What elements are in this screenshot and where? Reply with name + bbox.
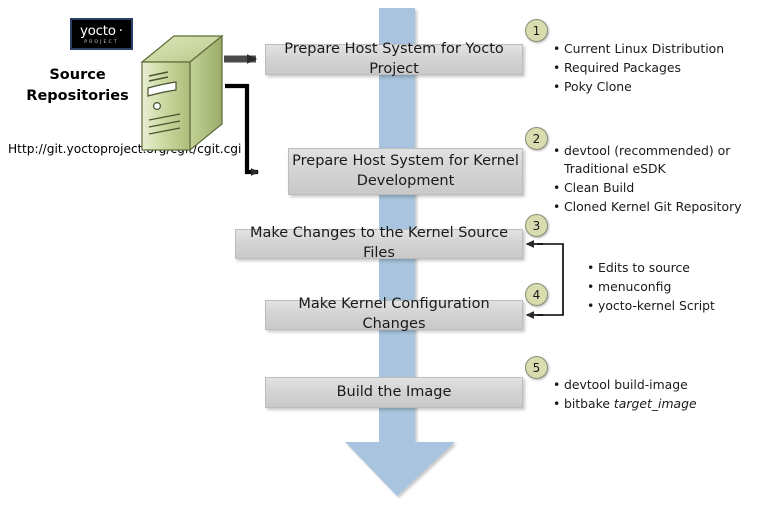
bullet-list-step-2: devtool (recommended) or Traditional eSD… <box>551 142 763 217</box>
process-box-step-1[interactable]: Prepare Host System for Yocto Project <box>265 44 523 75</box>
process-box-step-5-label: Build the Image <box>337 383 452 403</box>
bullet-list-step-5: devtool build-image bitbake target_image <box>551 376 763 414</box>
source-label-line2: Repositories <box>20 86 135 107</box>
list-item: menuconfig <box>598 278 765 296</box>
logo-subtitle: PROJECT <box>84 41 119 46</box>
process-box-step-3[interactable]: Make Changes to the Kernel Source Files <box>235 229 523 259</box>
process-box-step-5[interactable]: Build the Image <box>265 377 523 408</box>
step-badge-2-number: 2 <box>533 132 541 146</box>
step-badge-4-number: 4 <box>533 288 541 302</box>
step-badge-5-number: 5 <box>533 361 541 375</box>
list-item: Clean Build <box>564 179 763 197</box>
step-badge-3-number: 3 <box>533 219 541 233</box>
diagram-canvas: yocto · PROJECT Source Repositories Http… <box>0 0 769 517</box>
yocto-project-logo: yocto · PROJECT <box>70 18 133 50</box>
list-item: Cloned Kernel Git Repository <box>564 198 763 216</box>
list-item: Current Linux Distribution <box>564 40 763 58</box>
bullet-list-step-1: Current Linux Distribution Required Pack… <box>551 40 763 97</box>
list-item: devtool build-image <box>564 376 763 394</box>
bullet-list-steps-3-4: Edits to source menuconfig yocto-kernel … <box>585 259 765 316</box>
server-icon <box>136 32 228 154</box>
step-badge-2: 2 <box>525 127 548 150</box>
step-badge-5: 5 <box>525 356 548 379</box>
list-item: bitbake target_image <box>564 395 763 413</box>
source-repositories-label: Source Repositories <box>20 65 135 107</box>
source-label-line1: Source <box>20 65 135 86</box>
bitbake-target-arg: target_image <box>614 396 697 411</box>
list-item: Poky Clone <box>564 78 763 96</box>
logo-dot: · <box>119 23 123 39</box>
process-box-step-3-label: Make Changes to the Kernel Source Files <box>236 224 522 263</box>
list-item: yocto-kernel Script <box>598 297 765 315</box>
bitbake-command: bitbake <box>564 396 614 411</box>
list-item: Required Packages <box>564 59 763 77</box>
process-box-step-1-label: Prepare Host System for Yocto Project <box>266 40 522 79</box>
process-box-step-4-label: Make Kernel Configuration Changes <box>266 295 522 334</box>
step-badge-4: 4 <box>525 283 548 306</box>
process-box-step-2[interactable]: Prepare Host System for Kernel Developme… <box>288 148 523 195</box>
step-badge-1-number: 1 <box>533 24 541 38</box>
logo-wordmark: yocto <box>80 25 116 39</box>
list-item: devtool (recommended) or Traditional eSD… <box>564 142 763 178</box>
list-item: Edits to source <box>598 259 765 277</box>
process-box-step-2-label: Prepare Host System for Kernel Developme… <box>289 152 522 191</box>
process-box-step-4[interactable]: Make Kernel Configuration Changes <box>265 300 523 330</box>
step-badge-1: 1 <box>525 19 548 42</box>
step-badge-3: 3 <box>525 214 548 237</box>
